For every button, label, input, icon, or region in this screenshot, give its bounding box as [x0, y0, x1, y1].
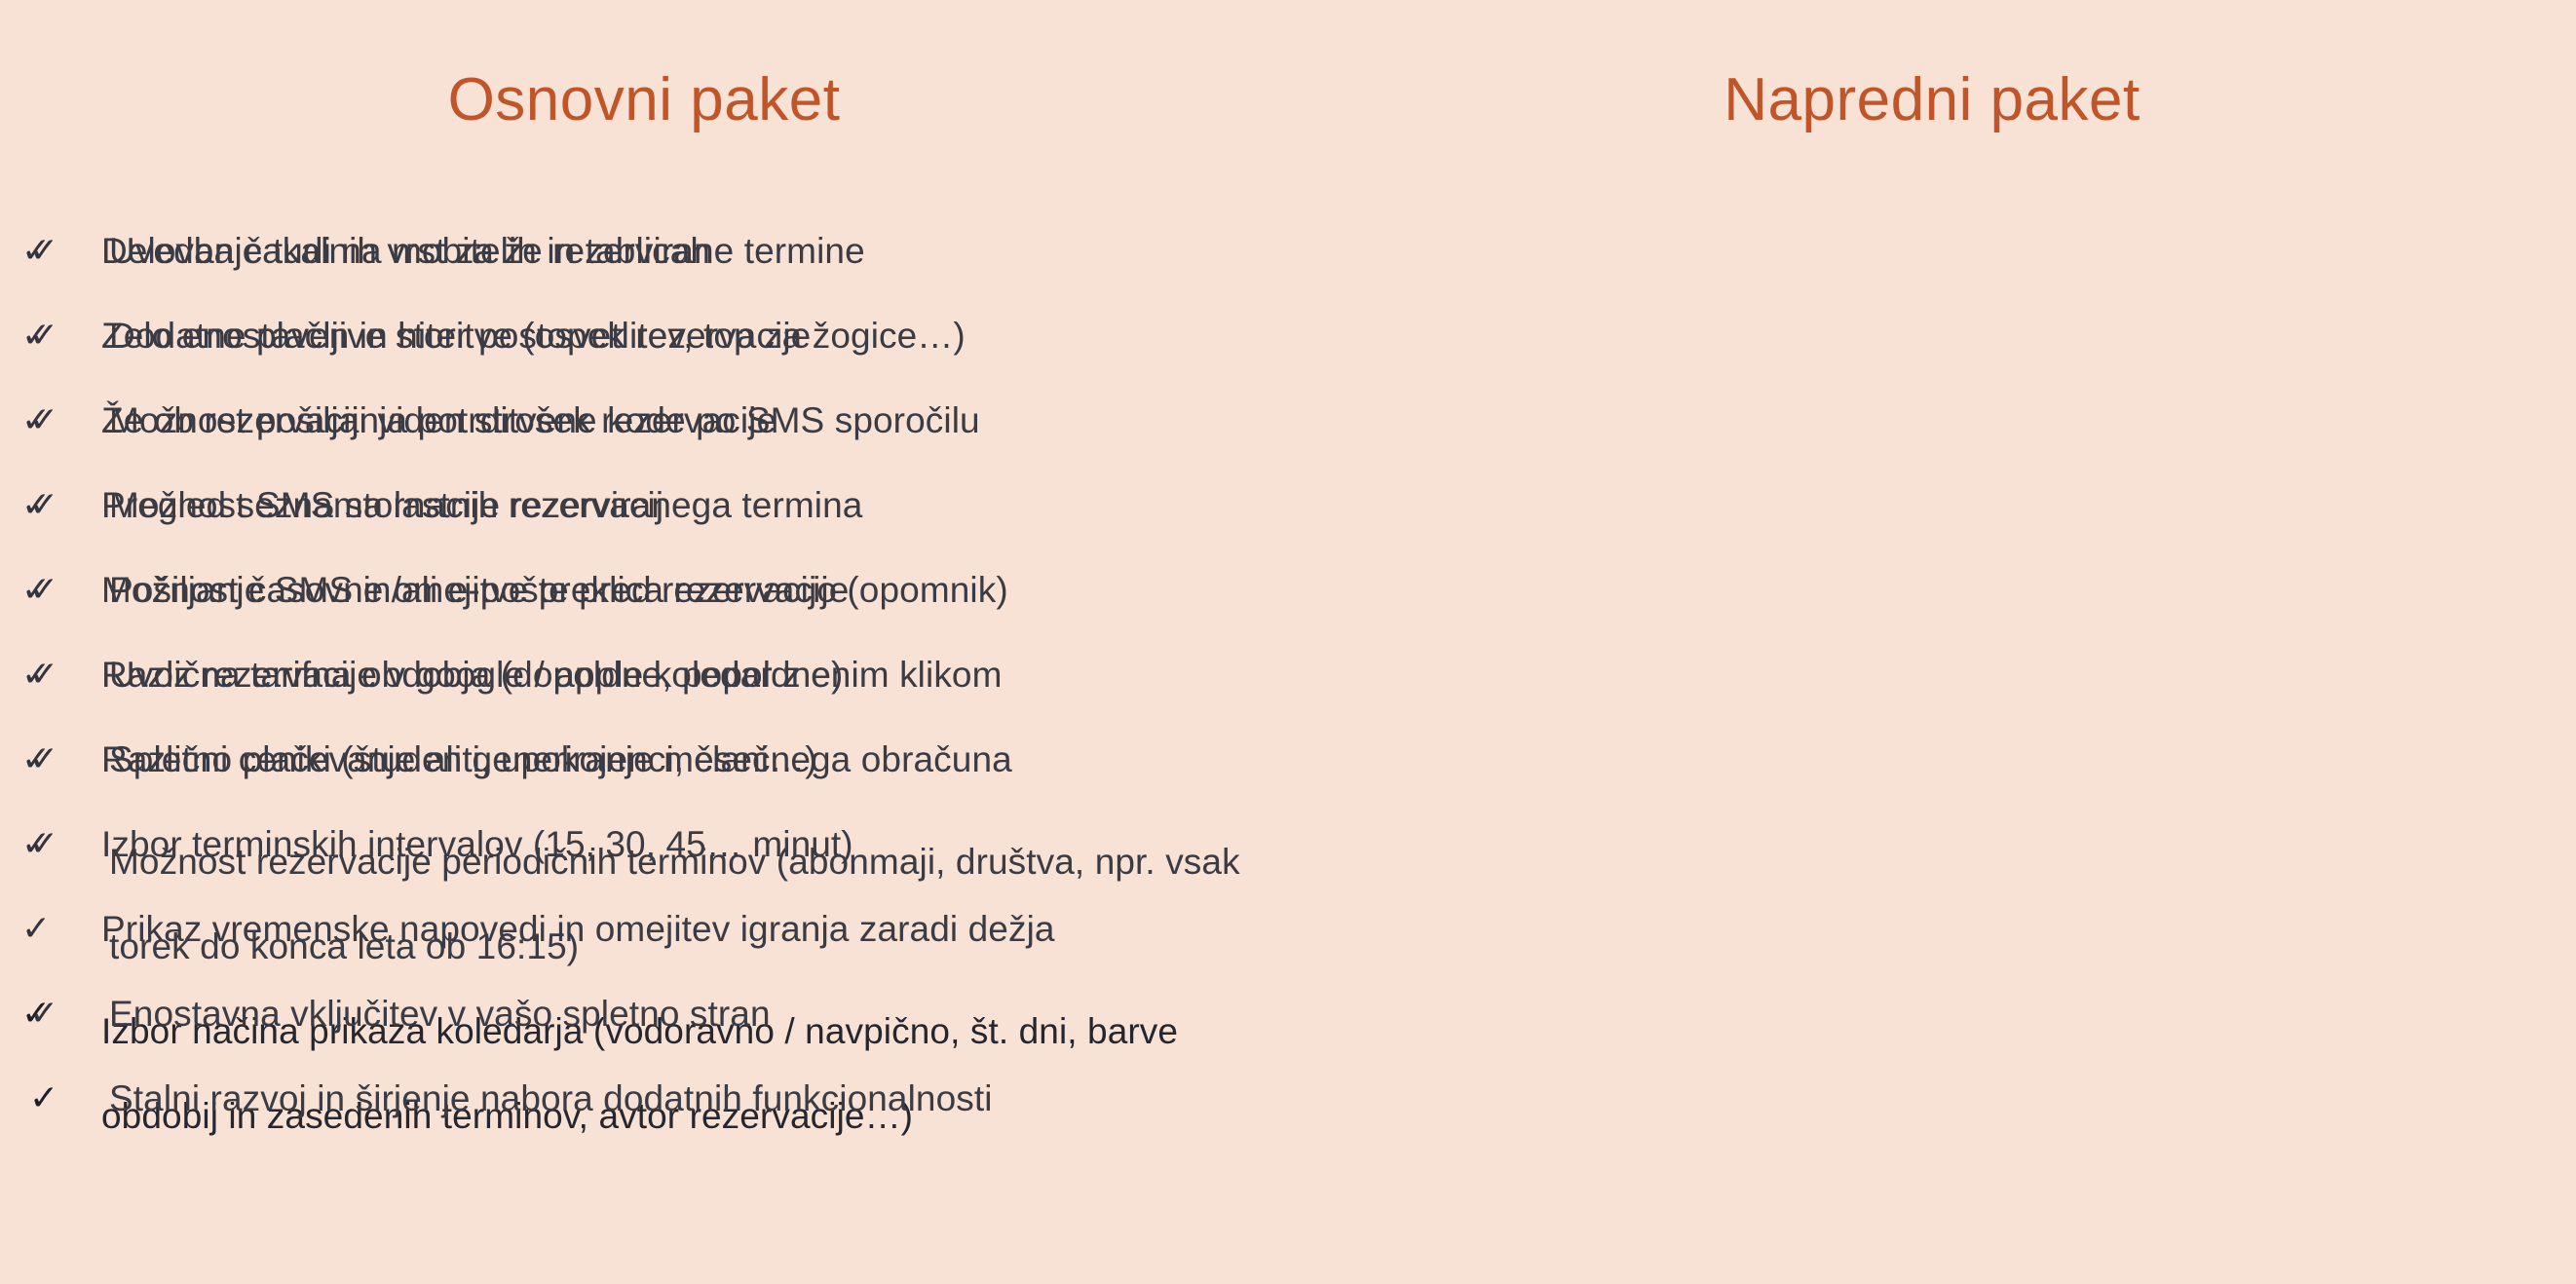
check-icon: ✓ [29, 1074, 72, 1124]
feature-label: Pošiljanje SMS in/ali e-pošte pred rezer… [109, 565, 1288, 616]
check-icon: ✓ [29, 311, 72, 361]
list-item: ✓ Uvoz rezervacije v google / apple kole… [8, 650, 1288, 735]
feature-label: Možnost rezervacije periodičnih terminov… [109, 819, 1288, 989]
check-icon: ✓ [29, 650, 72, 700]
page-title-advanced-package: Napredni paket [1288, 0, 2576, 131]
list-item: ✓ Možnost rezervacije periodičnih termin… [8, 819, 1288, 989]
feature-label: Možnost pošiljanja potrditvene kode po S… [109, 396, 1288, 446]
check-icon: ✓ [29, 480, 72, 531]
feature-label: Spletno plačevanje ali generiranje meseč… [109, 735, 1288, 785]
check-icon: ✓ [29, 226, 72, 277]
list-item: ✓ Možnost pošiljanja potrditvene kode po… [8, 396, 1288, 480]
list-item: ✓ Pošiljanje SMS in/ali e-pošte pred rez… [8, 565, 1288, 650]
list-item: ✓ Stalni razvoj in širjenje nabora dodat… [8, 1074, 1288, 1158]
feature-label: Uvedba čakalnih vrst za že rezervirane t… [109, 226, 1288, 277]
check-icon: ✓ [29, 396, 72, 446]
list-item: ✓ Spletno plačevanje ali generiranje mes… [8, 735, 1288, 819]
list-item: ✓ Možnost SMS stornacije rezerviranega t… [8, 480, 1288, 565]
check-icon: ✓ [29, 565, 72, 616]
feature-label: Dodatne plačljive storitve (osvetlitev, … [109, 311, 1288, 361]
package-column-advanced: Napredni paket ✓ Uvedba čakalnih vrst za… [1288, 0, 2576, 1284]
feature-label: Stalni razvoj in širjenje nabora dodatni… [109, 1074, 1288, 1124]
check-icon: ✓ [29, 735, 72, 785]
pricing-packages-slide: Osnovni paket ✓ Delovanje tudi na mobite… [0, 0, 2576, 1284]
list-item: ✓ Dodatne plačljive storitve (osvetlitev… [8, 311, 1288, 396]
list-item: ✓ Uvedba čakalnih vrst za že rezervirane… [8, 226, 1288, 311]
check-icon: ✓ [29, 819, 72, 870]
list-item: ✓ Enostavna vključitev v vašo spletno st… [8, 989, 1288, 1074]
check-icon: ✓ [29, 989, 72, 1039]
feature-label: Enostavna vključitev v vašo spletno stra… [109, 989, 1288, 1039]
feature-list-advanced: ✓ Uvedba čakalnih vrst za že rezervirane… [8, 226, 1288, 1158]
feature-label: Možnost SMS stornacije rezerviranega ter… [109, 480, 1288, 531]
page-title-basic-package: Osnovni paket [0, 0, 1288, 131]
feature-label: Uvoz rezervacije v google / apple koleda… [109, 650, 1288, 700]
